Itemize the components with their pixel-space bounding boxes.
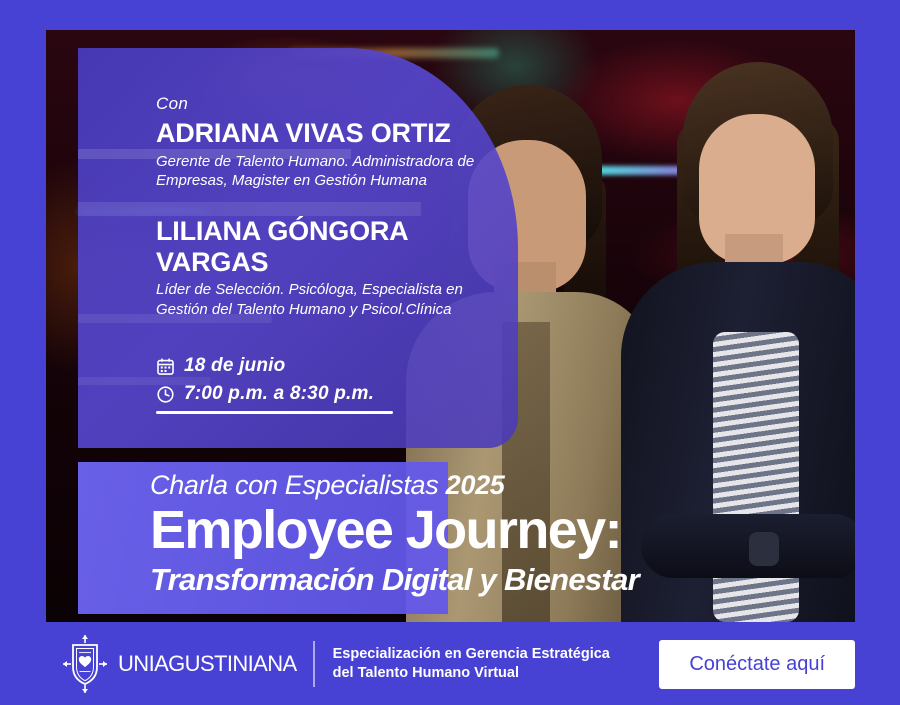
speaker-2-role: Líder de Selección. Psicóloga, Especiali… <box>156 280 506 320</box>
speaker-1: ADRIANA VIVAS ORTIZ Gerente de Talento H… <box>156 119 506 191</box>
event-subtitle: Transformación Digital y Bienestar <box>150 562 639 598</box>
speaker-1-name: ADRIANA VIVAS ORTIZ <box>156 119 506 149</box>
speaker-2-name: LILIANA GÓNGORA VARGAS <box>156 216 506 276</box>
schedule-block: 18 de junio 7:00 p.m. a 8:30 p.m. <box>156 355 393 414</box>
event-title-block: Charla con Especialistas 2025 Employee J… <box>150 470 639 598</box>
connect-button[interactable]: Conéctate aquí <box>659 640 855 689</box>
program-name: Especialización en Gerencia Estratégica … <box>333 645 610 682</box>
logo-wordmark: UNIAGUSTINIANA <box>118 651 297 677</box>
event-main-title: Employee Journey: <box>150 503 639 558</box>
speaker-2: LILIANA GÓNGORA VARGAS Líder de Selecció… <box>156 216 506 319</box>
university-logo: UNIAGUSTINIANA <box>62 634 297 694</box>
time-row: 7:00 p.m. a 8:30 p.m. <box>156 383 393 405</box>
hero-image: Con ADRIANA VIVAS ORTIZ Gerente de Talen… <box>46 30 855 622</box>
kicker-year: 2025 <box>446 470 505 500</box>
program-line-2: del Talento Humano Virtual <box>333 664 610 683</box>
calendar-icon <box>156 357 175 376</box>
speaker-list: Con ADRIANA VIVAS ORTIZ Gerente de Talen… <box>156 94 506 319</box>
schedule-underline <box>156 411 393 414</box>
clock-icon <box>156 385 175 404</box>
speaker-photo-liliana <box>621 30 855 622</box>
event-time: 7:00 p.m. a 8:30 p.m. <box>184 383 374 405</box>
date-row: 18 de junio <box>156 355 393 377</box>
intro-label: Con <box>156 94 506 114</box>
title-kicker: Charla con Especialistas 2025 <box>150 470 639 501</box>
footer-divider <box>313 641 315 687</box>
uniagustiniana-shield-logo <box>62 634 108 694</box>
event-date: 18 de junio <box>184 355 285 377</box>
program-line-1: Especialización en Gerencia Estratégica <box>333 645 610 664</box>
speaker-1-role: Gerente de Talento Humano. Administrador… <box>156 152 506 192</box>
kicker-text: Charla con Especialistas <box>150 470 446 500</box>
footer-bar: UNIAGUSTINIANA Especialización en Gerenc… <box>0 622 900 705</box>
